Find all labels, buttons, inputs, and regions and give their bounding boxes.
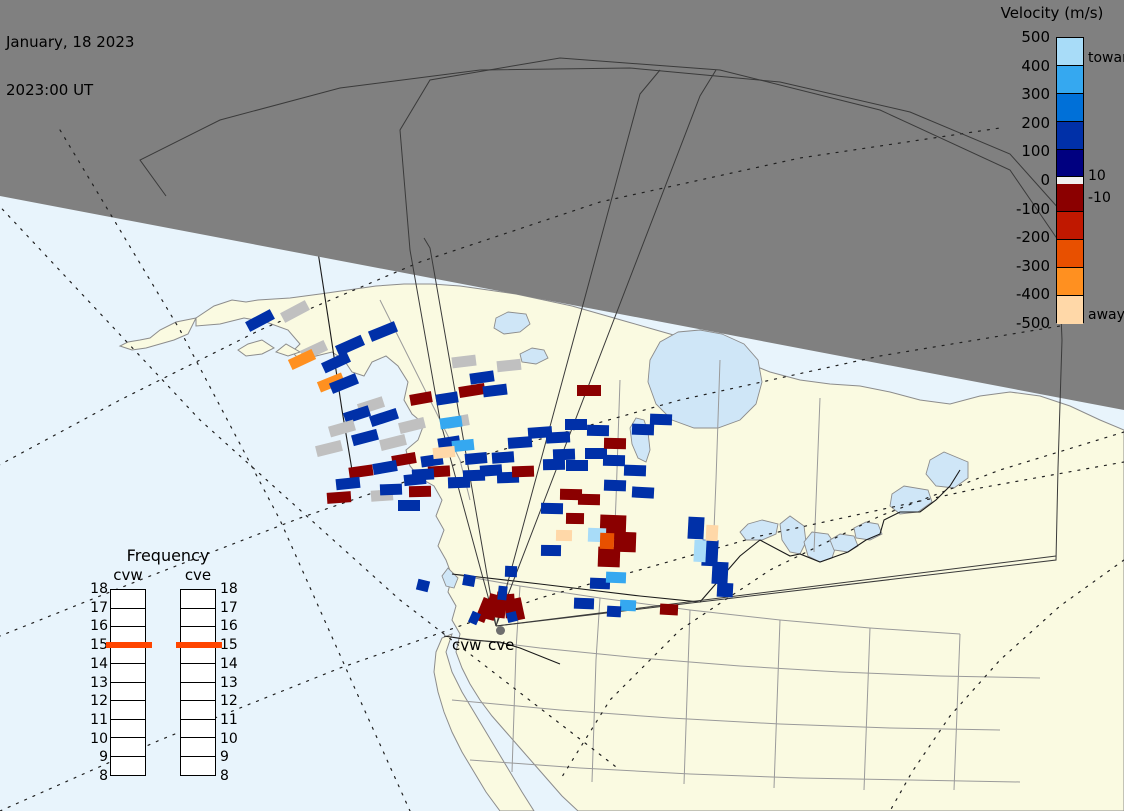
date-line: January, 18 2023: [6, 34, 134, 50]
timestamp-label: January, 18 2023 2023:00 UT: [6, 2, 134, 130]
velocity-colorbar: Velocity (m/s) 5004003002001000-100-200-…: [984, 4, 1124, 334]
radar-cell[interactable]: [556, 530, 572, 541]
superdarn-map-window: January, 18 2023 2023:00 UT Velocity (m/…: [0, 0, 1124, 811]
radar-cell[interactable]: [432, 446, 455, 459]
radar-cell[interactable]: [607, 606, 622, 618]
radar-cell[interactable]: [587, 425, 609, 436]
radar-cell[interactable]: [492, 451, 515, 464]
frequency-legend: Frequency cvw18171615141312111098cve1817…: [88, 546, 248, 786]
radar-cell[interactable]: [620, 600, 637, 612]
frequency-tick-cve-16: 16: [220, 618, 238, 634]
frequency-tick-cvw-12: 12: [90, 693, 108, 709]
frequency-tick-cvw-17: 17: [90, 600, 108, 616]
colorbar-side-labels: toward10-10away: [984, 4, 1124, 334]
radar-cell[interactable]: [717, 583, 734, 598]
frequency-cell: [111, 757, 145, 776]
radar-cell[interactable]: [451, 439, 474, 452]
frequency-tick-cve-17: 17: [220, 600, 238, 616]
frequency-tick-cvw-9: 9: [99, 749, 108, 765]
radar-cell[interactable]: [543, 459, 565, 470]
frequency-tick-cve-11: 11: [220, 712, 238, 728]
frequency-tick-cve-14: 14: [220, 656, 238, 672]
frequency-tick-cvw-14: 14: [90, 656, 108, 672]
frequency-ticks-cvw: 18171615141312111098: [84, 589, 108, 776]
radar-cell[interactable]: [603, 455, 625, 466]
frequency-tick-cve-15: 15: [220, 637, 238, 653]
ut-time-line: 2023:00 UT: [6, 82, 134, 98]
colorbar-away-label: away: [1088, 307, 1124, 323]
radar-cell[interactable]: [606, 572, 626, 584]
colorbar-positive-threshold-label: 10: [1088, 168, 1106, 184]
radar-cell[interactable]: [624, 465, 646, 477]
colorbar-negative-threshold-label: -10: [1088, 190, 1111, 206]
frequency-tick-cve-12: 12: [220, 693, 238, 709]
frequency-tick-cvw-8: 8: [99, 768, 108, 784]
frequency-cell: [181, 646, 215, 665]
radar-cell[interactable]: [566, 460, 588, 471]
radar-cell[interactable]: [541, 545, 561, 556]
radar-cell[interactable]: [577, 385, 601, 396]
frequency-cell: [111, 738, 145, 757]
radar-cell[interactable]: [546, 431, 571, 443]
frequency-cell: [181, 738, 215, 757]
frequency-bar-label-cvw: cvw: [103, 566, 153, 584]
colorbar-toward-label: toward: [1088, 50, 1124, 66]
station-label-cvw: cvw: [452, 636, 481, 654]
radar-cell[interactable]: [465, 452, 488, 465]
radar-cell[interactable]: [512, 466, 534, 478]
radar-cell[interactable]: [565, 419, 587, 430]
frequency-cell: [181, 590, 215, 609]
radar-cell[interactable]: [693, 540, 706, 563]
frequency-cell: [181, 720, 215, 739]
frequency-tick-cve-8: 8: [220, 768, 229, 784]
radar-cell[interactable]: [598, 547, 621, 568]
frequency-cell: [181, 609, 215, 628]
radar-cell[interactable]: [541, 503, 563, 514]
frequency-ticks-cve: 18171615141312111098: [220, 589, 244, 776]
radar-cell[interactable]: [687, 517, 704, 540]
frequency-cell: [111, 646, 145, 665]
frequency-bar-cve[interactable]: [180, 589, 216, 776]
frequency-cell: [111, 590, 145, 609]
radar-cell[interactable]: [462, 574, 476, 587]
frequency-tick-cve-9: 9: [220, 749, 229, 765]
frequency-tick-cvw-18: 18: [90, 581, 108, 597]
frequency-marker-cvw: [106, 642, 152, 648]
radar-cell[interactable]: [578, 494, 600, 505]
frequency-cell: [181, 701, 215, 720]
radar-cell[interactable]: [327, 491, 352, 504]
radar-cell[interactable]: [574, 598, 594, 610]
frequency-tick-cvw-13: 13: [90, 675, 108, 691]
radar-cell[interactable]: [604, 480, 626, 492]
frequency-cell: [181, 757, 215, 776]
frequency-cell: [111, 664, 145, 683]
frequency-cell: [111, 609, 145, 628]
frequency-marker-cve: [176, 642, 222, 648]
frequency-tick-cve-13: 13: [220, 675, 238, 691]
radar-cell[interactable]: [398, 500, 420, 511]
frequency-cell: [111, 683, 145, 702]
radar-cell[interactable]: [505, 566, 517, 577]
frequency-cell: [181, 683, 215, 702]
frequency-title: Frequency: [88, 546, 248, 565]
station-label-cve: cve: [488, 636, 514, 654]
radar-cell[interactable]: [632, 424, 654, 436]
radar-cell[interactable]: [380, 484, 402, 496]
frequency-cell: [181, 664, 215, 683]
radar-cell[interactable]: [409, 486, 431, 497]
frequency-bar-cvw[interactable]: [110, 589, 146, 776]
radar-cell[interactable]: [448, 477, 470, 489]
radar-cell[interactable]: [497, 586, 507, 601]
frequency-bar-label-cve: cve: [173, 566, 223, 584]
radar-cell[interactable]: [650, 414, 672, 426]
radar-cell[interactable]: [600, 533, 615, 549]
radar-cell[interactable]: [632, 486, 655, 498]
radar-cell[interactable]: [711, 562, 728, 585]
radar-cell[interactable]: [604, 438, 626, 449]
radar-cell[interactable]: [566, 513, 584, 524]
frequency-tick-cve-18: 18: [220, 581, 238, 597]
frequency-cell: [111, 720, 145, 739]
frequency-tick-cve-10: 10: [220, 731, 238, 747]
frequency-tick-cvw-11: 11: [90, 712, 108, 728]
radar-site-marker: [496, 626, 505, 635]
frequency-cell: [111, 701, 145, 720]
radar-cell[interactable]: [412, 468, 435, 480]
radar-cell[interactable]: [553, 449, 575, 461]
frequency-tick-cvw-10: 10: [90, 731, 108, 747]
frequency-tick-cvw-16: 16: [90, 618, 108, 634]
radar-cell[interactable]: [660, 604, 679, 616]
radar-cell[interactable]: [706, 525, 719, 542]
